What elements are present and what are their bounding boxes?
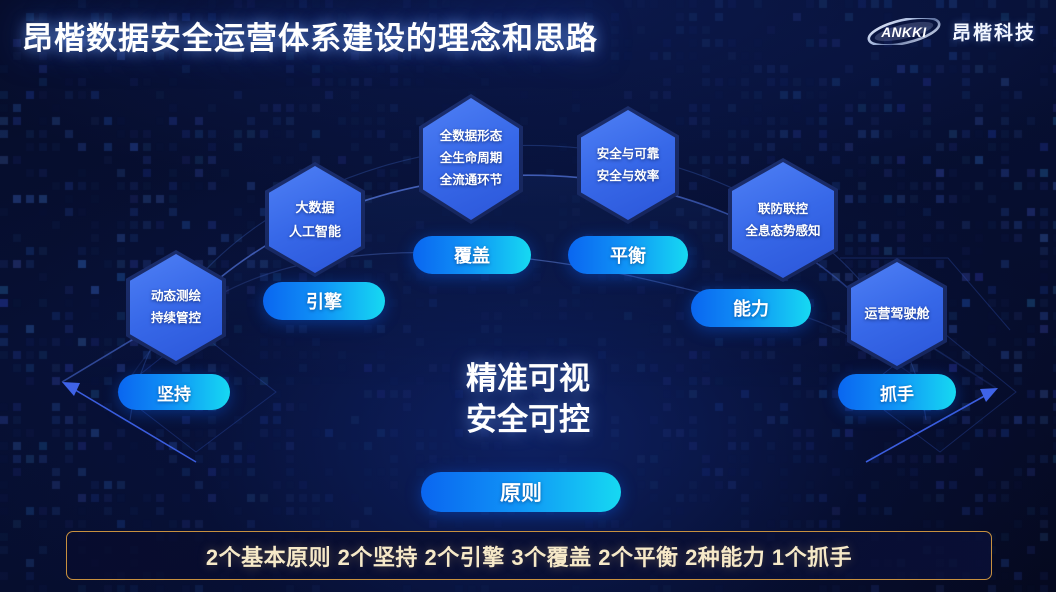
hex-line: 联防联控	[758, 198, 808, 220]
page-title: 昂楷数据安全运营体系建设的理念和思路	[22, 13, 598, 58]
slogan-line-2: 安全可控	[408, 399, 648, 440]
hex-line: 安全与效率	[597, 165, 660, 187]
hex-line: 全流通环节	[440, 170, 503, 192]
pill-label: 坚持	[157, 380, 191, 405]
pill-persist[interactable]: 坚持	[118, 374, 230, 410]
pill-label: 覆盖	[454, 242, 490, 268]
pill-label: 引擎	[306, 288, 342, 314]
pill-handle[interactable]: 抓手	[838, 374, 956, 410]
pill-coverage[interactable]: 覆盖	[413, 236, 531, 274]
hex-line: 全息态势感知	[745, 220, 820, 242]
svg-text:ANKKI: ANKKI	[880, 25, 926, 40]
pill-principle[interactable]: 原则	[421, 472, 621, 512]
ankki-logo-icon: ANKKI	[867, 18, 941, 45]
hex-line: 运营驾驶舱	[864, 304, 929, 325]
hex-ops-cockpit[interactable]: 运营驾驶舱	[847, 258, 947, 370]
hex-full-coverage[interactable]: 全数据形态 全生命周期 全流通环节	[419, 94, 523, 224]
brand-name: 昂楷科技	[952, 18, 1036, 45]
hex-line: 动态测绘	[151, 286, 201, 308]
slide-root: 昂楷数据安全运营体系建设的理念和思路 ANKKI	[0, 0, 1056, 592]
hex-line: 全生命周期	[440, 148, 503, 170]
hex-line: 安全与可靠	[597, 143, 660, 165]
hex-line: 人工智能	[289, 220, 341, 243]
footer-summary-text: 2个基本原则 2个坚持 2个引擎 3个覆盖 2个平衡 2种能力 1个抓手	[206, 540, 852, 572]
center-slogan: 精准可视 安全可控	[408, 358, 648, 440]
pill-engine[interactable]: 引擎	[263, 282, 385, 320]
pill-balance[interactable]: 平衡	[568, 236, 688, 274]
hex-line: 全数据形态	[440, 126, 503, 148]
pill-label: 抓手	[880, 380, 914, 405]
brand-logo: ANKKI 昂楷科技	[867, 18, 1036, 45]
hex-line: 持续管控	[151, 308, 201, 330]
pill-label: 能力	[733, 295, 769, 321]
pill-label: 平衡	[610, 242, 646, 268]
hex-joint-defense[interactable]: 联防联控 全息态势感知	[728, 158, 838, 282]
pill-label: 原则	[500, 477, 542, 507]
hex-bigdata-ai[interactable]: 大数据 人工智能	[265, 162, 365, 277]
hex-dynamic-mapping[interactable]: 动态测绘 持续管控	[126, 250, 226, 365]
pill-ability[interactable]: 能力	[691, 289, 811, 327]
hex-line: 大数据	[295, 196, 334, 219]
footer-summary-bar: 2个基本原则 2个坚持 2个引擎 3个覆盖 2个平衡 2种能力 1个抓手	[66, 531, 992, 580]
slide-header: 昂楷数据安全运营体系建设的理念和思路 ANKKI	[0, 0, 1056, 62]
hex-security-balance[interactable]: 安全与可靠 安全与效率	[577, 106, 679, 224]
slogan-line-1: 精准可视	[408, 358, 648, 399]
